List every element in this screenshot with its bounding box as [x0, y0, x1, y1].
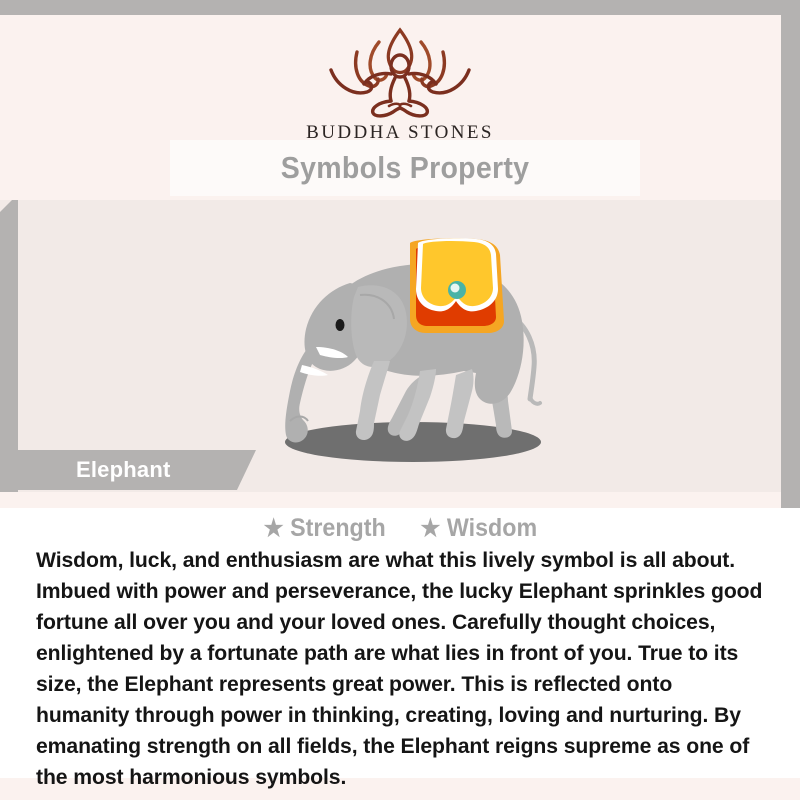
elephant-illustration [250, 225, 570, 490]
lotus-meditation-icon [309, 22, 491, 118]
frame-top-bar [0, 0, 800, 15]
page-title: Symbols Property [281, 150, 530, 186]
property-label-strength: Strength [290, 514, 386, 543]
elephant-eye [336, 319, 345, 331]
star-icon: ★ [420, 517, 440, 541]
property-label-wisdom: Wisdom [447, 514, 537, 543]
property-item-strength: ★ Strength [263, 514, 385, 543]
frame-left-bar [0, 200, 18, 492]
title-band: Symbols Property [170, 140, 640, 196]
symbol-name-banner: Elephant [18, 450, 256, 490]
star-icon: ★ [263, 517, 283, 541]
description-paragraph: Wisdom, luck, and enthusiasm are what th… [36, 545, 767, 793]
symbol-card: BUDDHA STONES Symbols Property [0, 0, 800, 800]
lower-accent-band [0, 492, 781, 508]
brand-logo: BUDDHA STONES [0, 22, 800, 144]
property-list: ★ Strength ★ Wisdom [0, 514, 800, 543]
property-item-wisdom: ★ Wisdom [420, 514, 537, 543]
symbol-name-label: Elephant [76, 457, 171, 483]
